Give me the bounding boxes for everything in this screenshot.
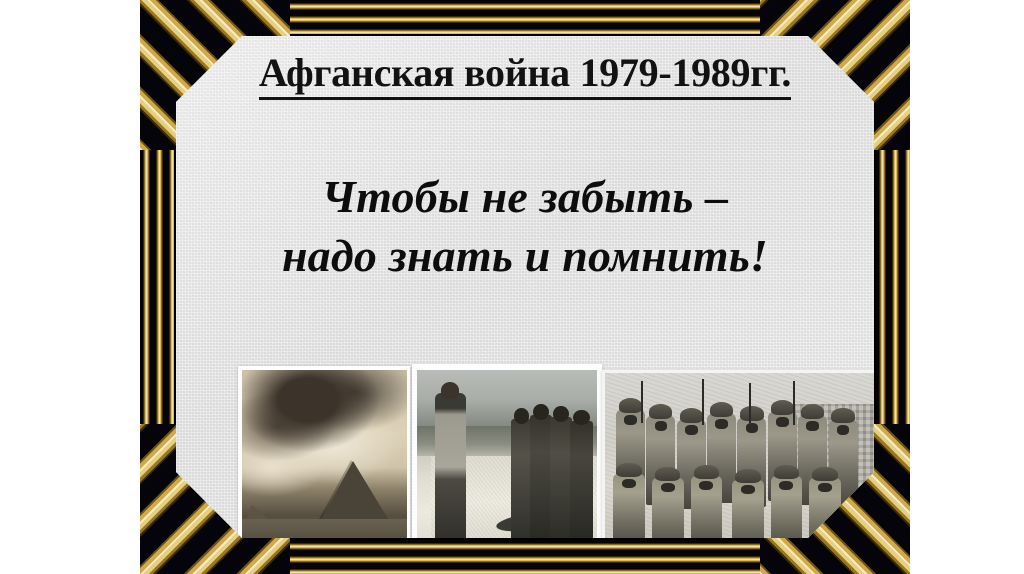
decorative-gold-frame: Афганская война 1979-1989гг. Чтобы не за… bbox=[140, 0, 910, 574]
photo-collage bbox=[176, 36, 874, 538]
photo-soldier-lineup bbox=[412, 364, 602, 538]
presentation-slide: Афганская война 1979-1989гг. Чтобы не за… bbox=[0, 0, 1024, 574]
photo-mountain-landscape bbox=[238, 366, 410, 538]
slide-content-panel: Афганская война 1979-1989гг. Чтобы не за… bbox=[176, 36, 874, 538]
photo-soldier-group-portrait bbox=[602, 370, 874, 538]
